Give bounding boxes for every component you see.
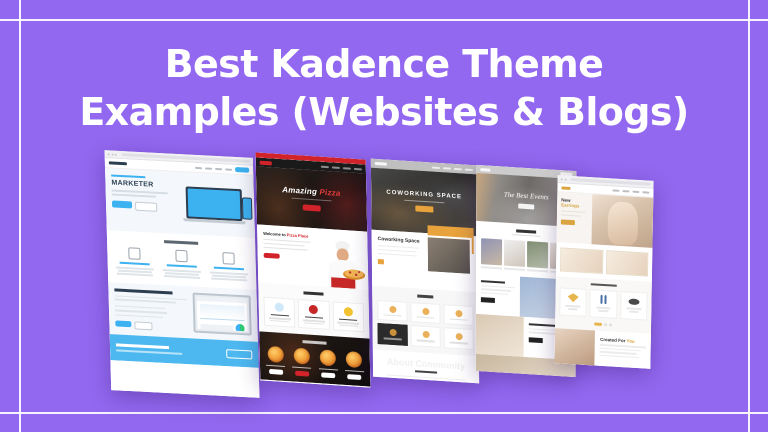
hero-heading-main: Amazing: [282, 185, 317, 196]
thumb-caption: [481, 266, 502, 269]
search-icon: [128, 247, 140, 260]
monitor-icon: [222, 252, 234, 265]
nav-link: [632, 191, 639, 193]
title-line-2: Examples (Websites & Blogs): [0, 88, 768, 136]
hero-cta-button: [415, 206, 433, 213]
about-section: Coworking Space: [372, 230, 479, 293]
nav-link: [622, 190, 629, 192]
section-text: [600, 354, 639, 358]
menu-item-name: [266, 364, 285, 367]
benefit-label: [383, 314, 401, 317]
nav-link: [332, 166, 340, 169]
feature-list-item: [115, 314, 163, 318]
welcome-heading-main: Welcome to: [263, 231, 286, 237]
section-heading: [303, 291, 323, 295]
benefit-label: [384, 337, 402, 340]
card-title: [120, 262, 150, 266]
hero-secondary-button: [135, 202, 157, 212]
pizza-image: [320, 349, 336, 366]
feature-text-block: [476, 273, 520, 316]
laptop-screen: [186, 186, 243, 221]
nav-link: [225, 168, 232, 170]
community-ghost-heading: About Community: [379, 356, 473, 372]
monitor-illustration: [193, 293, 252, 336]
hero-heading: Amazing Pizza: [282, 185, 340, 198]
site-logo: [375, 162, 387, 166]
service-icon: [309, 304, 318, 314]
hero-eyebrow: [111, 174, 145, 178]
cta-button: [226, 349, 252, 359]
pizza-image: [267, 345, 283, 362]
menu-item: [342, 350, 366, 380]
nav-link: [343, 167, 351, 170]
gallery-thumb: [504, 240, 525, 267]
service-card: [298, 298, 330, 330]
services-section: [258, 282, 369, 338]
mockup-page-coworking: COWORKING SPACE Coworking Space: [371, 159, 479, 384]
thumb-caption: [527, 269, 548, 272]
mockup-coworking-space[interactable]: COWORKING SPACE Coworking Space: [371, 159, 479, 384]
gallery-thumb: [481, 238, 502, 265]
hero-subtext: [112, 193, 156, 197]
promo-banner-row: [556, 242, 653, 282]
mockup-page-pizza: Amazing Pizza Welcome to Pizza Place: [256, 157, 371, 387]
feature-list-item: [115, 305, 166, 309]
hero-heading: COWORKING SPACE: [386, 189, 462, 200]
hero-model-photo: [591, 194, 653, 248]
card-text: [270, 320, 289, 323]
chef-photo: [319, 236, 366, 289]
hero-section: MARKETER: [105, 168, 255, 238]
feature-button: [529, 337, 543, 343]
window-dot-icon: [111, 153, 113, 155]
benefits-section: [372, 286, 479, 356]
promo-banner: [560, 247, 603, 274]
service-card: [332, 301, 364, 333]
section-text-block: Created For You: [595, 331, 651, 369]
card-title: [305, 316, 323, 319]
section-heading: [417, 294, 433, 298]
welcome-text: [263, 246, 307, 250]
product-name: [596, 307, 611, 309]
nav-link: [612, 189, 619, 191]
about-text: [378, 249, 416, 253]
section-heading: [516, 229, 536, 233]
welcome-button: [264, 253, 280, 259]
nav-link: [195, 166, 202, 168]
product-price: [599, 310, 609, 312]
menu-item: [290, 347, 314, 377]
menu-item-name: [292, 366, 311, 369]
nav-link: [321, 165, 329, 168]
menu-section: [259, 331, 370, 386]
conference-icon: [455, 333, 462, 340]
products-section: [555, 276, 652, 334]
nav-link: [454, 167, 462, 170]
cta-heading: [116, 344, 169, 350]
carousel-dots[interactable]: [559, 320, 647, 328]
gem-icon: [568, 293, 579, 303]
nav-link: [432, 166, 440, 169]
menu-item-button: [295, 371, 309, 376]
gallery-thumb: [527, 241, 548, 268]
benefit-label: [450, 342, 468, 345]
card-text: [164, 275, 200, 278]
frame-line-bottom: [0, 412, 768, 414]
menu-item-row: [264, 345, 367, 380]
coffee-icon: [422, 307, 429, 314]
benefit-cell-highlighted: [378, 323, 408, 345]
feature-heading: [481, 280, 505, 283]
feature-button: [481, 297, 495, 303]
menu-item: [264, 345, 288, 375]
product-card: [559, 287, 587, 317]
community-section: About Community: [373, 349, 479, 383]
benefit-cell: [443, 304, 473, 326]
earring-icon: [598, 295, 609, 305]
delivery-icon: [275, 302, 284, 312]
created-for-you-section: Created For You: [554, 328, 651, 369]
about-heading-text: Coworking Space: [378, 236, 420, 245]
menu-item-button: [347, 374, 361, 379]
pie-chart-icon: [235, 324, 244, 332]
hero-divider: [291, 197, 331, 201]
benefit-label: [416, 316, 434, 319]
feature-list-item: [115, 309, 167, 313]
bracelet-icon: [628, 298, 639, 305]
hero-order-button: [303, 205, 321, 212]
theme-showcase-collage: MARKETER: [0, 146, 768, 406]
dashboard-screenshot: [197, 297, 248, 332]
pizza-image: [294, 347, 310, 364]
hero-text: [561, 214, 581, 217]
hero-shop-button: [561, 219, 575, 225]
chart-icon: [175, 250, 187, 263]
card-title: [214, 267, 244, 271]
wifi-icon: [389, 305, 396, 312]
team-photo: [426, 235, 472, 276]
site-logo: [260, 160, 272, 165]
benefit-label: [449, 318, 467, 321]
slide-canvas: Best Kadence Theme Examples (Websites & …: [0, 0, 768, 432]
meeting-room-icon: [389, 329, 396, 336]
product-price: [629, 311, 639, 313]
section-heading: [164, 240, 198, 245]
section-heading: [302, 340, 326, 344]
chef-illustration-icon: [319, 236, 366, 289]
window-dot-icon: [108, 153, 110, 155]
hero-primary-button: [112, 200, 132, 208]
cta-text: [116, 350, 182, 355]
hero-section: New Earrings: [557, 192, 654, 248]
section-photo: [554, 328, 595, 366]
window-dot-icon: [115, 153, 117, 155]
section-subheading: [512, 234, 540, 237]
service-card-row: [264, 296, 365, 332]
menu-item-name: [345, 369, 364, 372]
site-logo: [109, 161, 127, 165]
benefit-label: [417, 339, 435, 342]
feature-text: [481, 292, 508, 295]
site-logo: [561, 186, 570, 190]
mockup-pizza-restaurant[interactable]: Amazing Pizza Welcome to Pizza Place: [256, 152, 371, 387]
frame-line-top: [0, 19, 768, 21]
hero-text: [561, 210, 585, 213]
card-title: [167, 264, 197, 268]
service-card: [113, 246, 156, 277]
benefit-cell: [410, 302, 440, 324]
laptop-screen-content: [188, 188, 241, 219]
section-heading: [591, 283, 617, 287]
nav-link: [443, 167, 451, 170]
services-section: [107, 230, 257, 290]
nav-link: [205, 167, 212, 169]
nav-link: [215, 167, 222, 169]
cart-icon: [642, 191, 649, 193]
site-logo: [480, 168, 490, 172]
hero-section: COWORKING SPACE: [371, 168, 478, 237]
access-icon: [422, 331, 429, 338]
menu-item-button: [269, 369, 283, 374]
section-heading-accent: You: [627, 338, 635, 343]
service-card: [264, 296, 296, 328]
product-name: [626, 307, 641, 309]
product-price: [568, 308, 578, 310]
menu-item-name: [319, 368, 338, 371]
organic-icon: [344, 306, 353, 316]
card-text: [117, 273, 153, 276]
hero-heading: The Best Events: [504, 190, 549, 201]
phone-illustration: [242, 197, 253, 220]
welcome-section: Welcome to Pizza Place: [257, 224, 368, 289]
benefit-cell: [377, 299, 407, 321]
card-text: [211, 278, 247, 281]
product-card: [590, 289, 618, 319]
section-heading-main: Created For: [600, 337, 625, 343]
benefit-cell: [411, 325, 441, 347]
hero-heading-accent: Earrings: [561, 202, 579, 208]
feature-secondary-button: [134, 321, 152, 330]
hero-heading: New Earrings: [561, 197, 588, 209]
laptop-illustration: [186, 186, 247, 224]
about-text: [378, 253, 418, 257]
mockup-page-marketer: MARKETER: [105, 158, 260, 398]
menu-item: [316, 349, 340, 379]
welcome-heading-accent: Pizza Place: [287, 232, 309, 238]
mockup-jewelry-shop[interactable]: New Earrings: [554, 175, 653, 369]
hero-cta-button: [518, 203, 534, 209]
pizza-image: [346, 351, 362, 368]
service-card-row: [113, 246, 250, 282]
benefits-grid: [377, 299, 474, 349]
hero-heading-accent: Pizza: [319, 187, 340, 197]
carousel-dot-active[interactable]: [594, 322, 602, 325]
thumb-caption: [504, 268, 525, 271]
product-card-row: [559, 287, 647, 320]
phone-screen: [243, 198, 252, 218]
carousel-dot[interactable]: [604, 323, 607, 326]
nav-link: [465, 168, 473, 171]
mockup-page-jewelry: New Earrings: [554, 183, 653, 369]
card-title: [339, 318, 357, 321]
hero-section: Amazing Pizza: [256, 166, 367, 231]
hero-subtext: [404, 199, 444, 203]
feature-primary-button: [115, 320, 131, 327]
about-button: [378, 259, 384, 264]
carousel-dot[interactable]: [609, 323, 612, 326]
product-card: [620, 291, 648, 321]
page-title: Best Kadence Theme Examples (Websites & …: [0, 40, 768, 136]
features-section: [108, 282, 258, 342]
service-card: [207, 251, 250, 282]
card-title: [271, 314, 289, 317]
product-name: [566, 305, 581, 307]
service-card: [160, 249, 203, 280]
feature-heading: [529, 323, 558, 327]
window-dot-icon: [564, 178, 566, 180]
mockup-marketer[interactable]: MARKETER: [105, 150, 260, 398]
card-text: [339, 324, 358, 327]
promo-banner: [605, 250, 648, 277]
nav-link: [354, 167, 362, 170]
feature-photo: [476, 313, 524, 356]
nav-cta-button: [235, 167, 249, 173]
feature-heading: [114, 288, 172, 294]
title-line-1: Best Kadence Theme: [0, 40, 768, 88]
window-dot-icon: [561, 178, 563, 180]
parking-icon: [455, 309, 462, 316]
menu-item-button: [321, 372, 335, 377]
card-text: [304, 322, 323, 325]
benefit-cell: [444, 327, 474, 349]
hero-text-block: New Earrings: [557, 192, 592, 244]
